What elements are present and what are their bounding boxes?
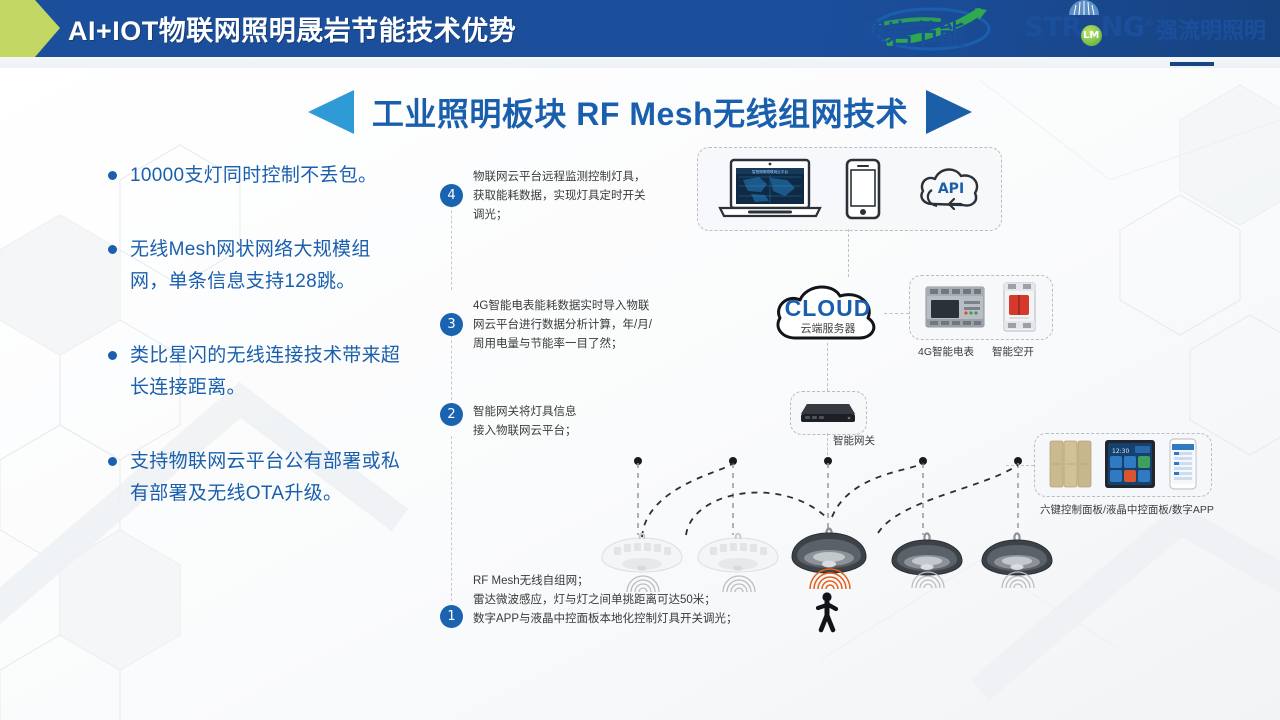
shengyan-logo-text: 晟岩节能: [861, 13, 965, 52]
left-arrow-icon: [308, 90, 354, 134]
cloud-title: CLOUD: [758, 295, 898, 322]
radar-wave-icon: [908, 569, 948, 590]
step-text: 物联网云平台远程监测控制灯具， 获取能耗数据，实现灯具定时开关 调光；: [473, 168, 646, 225]
step-text-line: 物联网云平台远程监测控制灯具，: [473, 168, 646, 187]
step-text-line: 获取能耗数据，实现灯具定时开关: [473, 187, 646, 206]
section-title-row: 工业照明板块 RF Mesh无线组网技术: [0, 86, 1280, 138]
api-cloud-icon: API: [915, 160, 983, 218]
section-title: 工业照明板块 RF Mesh无线组网技术: [372, 89, 908, 135]
header-underline-accent: [1170, 62, 1214, 66]
dashed-connector-clients-cloud: [848, 229, 850, 277]
shengyan-logo: 晟岩节能: [855, 6, 1015, 52]
step-text: 智能网关将灯具信息 接入物联网云平台；: [473, 403, 577, 441]
api-label: API: [938, 181, 964, 197]
header-chevron-accent: [0, 0, 60, 57]
strong-text-post: NG: [1101, 12, 1145, 43]
feature-bullet-list: 10000支灯同时控制不丢包。 无线Mesh网状网络大规模组网，单条信息支持12…: [108, 160, 408, 552]
lamp-fixture-5: [980, 527, 1054, 583]
strong-logo: STRLMNG® 强流明照明: [1025, 6, 1266, 52]
bullet-dot-icon: [108, 245, 117, 254]
cloud-subtitle: 云端服务器: [758, 320, 898, 336]
header-logo-group: 晟岩节能 STRLMNG® 强流明照明: [874, 0, 1274, 57]
smart-meter-icon: [924, 283, 986, 331]
step-number-badge: 1: [440, 605, 463, 628]
bullet-text: 类比星闪的无线连接技术带来超长连接距离。: [130, 340, 408, 404]
right-arrow-icon: [926, 90, 972, 134]
lamp-fixture-3-active: [790, 519, 868, 581]
step-text-line: 周用电量与节能率一目了然；: [473, 335, 652, 354]
laptop-icon: 智慧照明物联网云平台: [715, 158, 825, 220]
page-title: AI+IOT物联网照明晟岩节能技术优势: [68, 9, 516, 48]
step-2: 2 智能网关将灯具信息 接入物联网云平台；: [440, 403, 577, 441]
bullet-dot-icon: [108, 351, 117, 360]
radar-wave-icon: [718, 572, 760, 594]
step-1: 1 RF Mesh无线自组网； 雷达微波感应，灯与灯之间单挑距离可达50米； 数…: [440, 589, 738, 629]
lamp-fixture-4: [890, 527, 964, 583]
bullet-text: 支持物联网云平台公有部署或私有部署及无线OTA升级。: [130, 446, 408, 510]
meter-caption: 4G智能电表: [918, 344, 974, 359]
radar-wave-icon: [622, 572, 664, 594]
gateway-caption: 智能网关: [833, 433, 875, 448]
step-number-badge: 4: [440, 184, 463, 207]
strong-text-pre: STR: [1025, 12, 1082, 43]
shengyan-logo-text-value: 晟岩节能: [861, 20, 965, 51]
lamp-fixture-1: [600, 528, 684, 588]
step-4: 4 物联网云平台远程监测控制灯具， 获取能耗数据，实现灯具定时开关 调光；: [440, 168, 646, 225]
step-text-line: 调光；: [473, 206, 646, 225]
strong-logo-chinese: 强流明照明: [1156, 13, 1266, 45]
step-text: 4G智能电表能耗数据实时导入物联 网云平台进行数据分析计算，年/月/ 周用电量与…: [473, 297, 652, 354]
app-phone-icon: [1169, 438, 1197, 490]
bullet-text: 无线Mesh网状网络大规模组网，单条信息支持128跳。: [130, 234, 408, 298]
header-bottom-strip: [0, 57, 1280, 68]
radar-wave-icon: [998, 569, 1038, 590]
step-text-line: 数字APP与液晶中控面板本地化控制灯具开关调光；: [473, 610, 738, 629]
strong-logo-wordmark: STRLMNG®: [1025, 12, 1154, 46]
step-number-badge: 2: [440, 403, 463, 426]
six-key-panel-icon: [1049, 440, 1093, 488]
step-text-line: 雷达微波感应，灯与灯之间单挑距离可达50米；: [473, 591, 738, 610]
list-item: 类比星闪的无线连接技术带来超长连接距离。: [108, 340, 408, 404]
smart-breaker-icon: [1000, 281, 1040, 333]
gateway-icon: [799, 396, 857, 428]
step-text-line: 网云平台进行数据分析计算，年/月/: [473, 316, 652, 335]
smartphone-icon: [845, 158, 881, 220]
cloud-label: CLOUD 云端服务器: [758, 295, 898, 336]
person-icon: [812, 592, 842, 632]
step-number-badge: 3: [440, 313, 463, 336]
dashed-connector-cloud-gateway: [827, 343, 829, 391]
list-item: 无线Mesh网状网络大规模组网，单条信息支持128跳。: [108, 234, 408, 298]
strong-arc-icon: [1067, 0, 1101, 16]
step-text-line: 接入物联网云平台；: [473, 422, 577, 441]
page-header: AI+IOT物联网照明晟岩节能技术优势 晟岩节能: [0, 0, 1280, 57]
laptop-screen-title: 智慧照明物联网云平台: [752, 169, 788, 174]
panels-caption: 六键控制面板/液晶中控面板/数字APP: [1040, 502, 1214, 517]
bullet-text: 10000支灯同时控制不丢包。: [130, 160, 377, 192]
step-3: 3 4G智能电表能耗数据实时导入物联 网云平台进行数据分析计算，年/月/ 周用电…: [440, 297, 652, 354]
step-text-line: 4G智能电表能耗数据实时导入物联: [473, 297, 652, 316]
strong-lm-badge: LM: [1081, 25, 1102, 46]
breaker-caption: 智能空开: [992, 344, 1034, 359]
svg-text:12:30: 12:30: [1112, 448, 1129, 455]
bullet-dot-icon: [108, 171, 117, 180]
step-text-line: 智能网关将灯具信息: [473, 403, 577, 422]
step-connector-line: [451, 436, 453, 601]
list-item: 10000支灯同时控制不丢包。: [108, 160, 408, 192]
bullet-dot-icon: [108, 457, 117, 466]
lamp-fixture-2: [696, 528, 780, 588]
list-item: 支持物联网云平台公有部署或私有部署及无线OTA升级。: [108, 446, 408, 510]
lcd-control-panel-icon: 12:30: [1105, 440, 1155, 488]
registered-mark-icon: ®: [1144, 18, 1154, 29]
radar-wave-active-icon: [808, 567, 852, 591]
